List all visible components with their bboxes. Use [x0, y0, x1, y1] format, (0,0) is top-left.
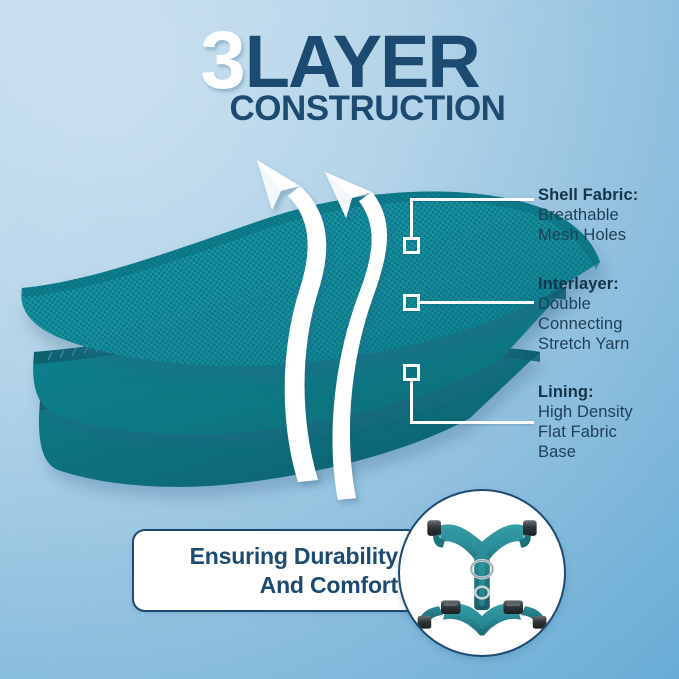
callout-marker-lining [403, 364, 420, 381]
callout-lining: Lining: High Density Flat Fabric Base [538, 382, 633, 462]
callout-shell-fabric-line3: Mesh Holes [538, 225, 638, 245]
infographic-canvas: 3 LAYER CONSTRUCTION Shell Fabric: Breat… [0, 0, 679, 679]
tagline-line-2: And Comfort [260, 571, 398, 600]
leader-line-interlayer-horizontal [418, 301, 534, 304]
page-title: 3 LAYER CONSTRUCTION [0, 26, 679, 126]
callout-interlayer-line2: Double [538, 294, 629, 314]
callout-interlayer: Interlayer: Double Connecting Stretch Ya… [538, 274, 629, 354]
callout-interlayer-title: Interlayer: [538, 274, 629, 294]
leader-line-shell-horizontal [410, 198, 534, 201]
title-subtitle: CONSTRUCTION [56, 91, 679, 126]
callout-lining-title: Lining: [538, 382, 633, 402]
callout-lining-line3: Flat Fabric [538, 422, 633, 442]
callout-marker-interlayer [403, 294, 420, 311]
callout-lining-line2: High Density [538, 402, 633, 422]
title-main-row: 3 LAYER [0, 26, 679, 97]
tagline-line-1: Ensuring Durability [190, 542, 398, 571]
callout-marker-shell-fabric [403, 237, 420, 254]
callout-lining-line4: Base [538, 442, 633, 462]
title-word: LAYER [245, 28, 479, 96]
title-number: 3 [200, 26, 243, 97]
leader-line-lining-vertical [410, 378, 413, 424]
callout-shell-fabric-line2: Breathable [538, 205, 638, 225]
callout-shell-fabric: Shell Fabric: Breathable Mesh Holes [538, 185, 638, 245]
product-photo-circle [398, 489, 566, 657]
leader-line-lining-horizontal [410, 421, 534, 424]
dog-harness-icon [400, 491, 564, 655]
tagline-banner: Ensuring Durability And Comfort [132, 529, 420, 612]
callout-shell-fabric-title: Shell Fabric: [538, 185, 638, 205]
leader-line-shell-vertical [410, 198, 413, 240]
callout-interlayer-line3: Connecting [538, 314, 629, 334]
callout-interlayer-line4: Stretch Yarn [538, 334, 629, 354]
